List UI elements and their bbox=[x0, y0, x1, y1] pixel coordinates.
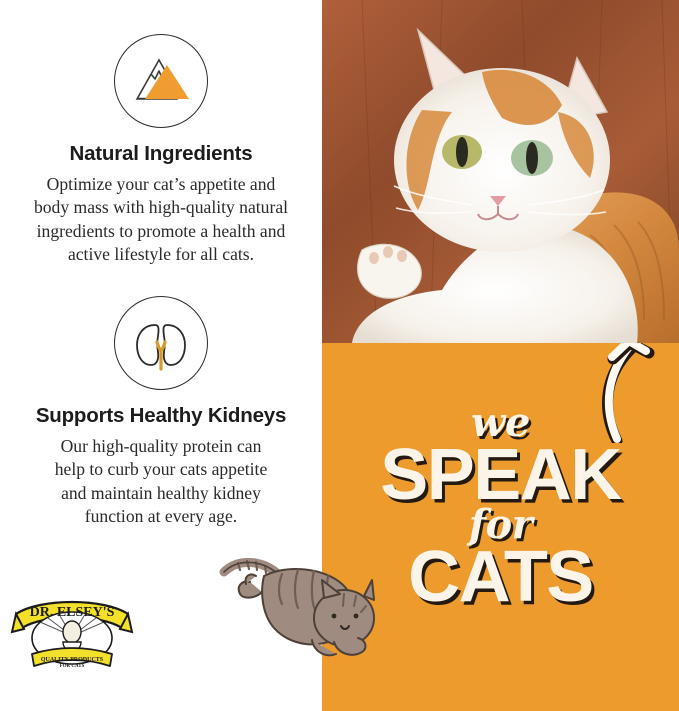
leaping-cat-illustration bbox=[216, 540, 392, 670]
feature-body-line: body mass with high-quality natural bbox=[16, 196, 306, 219]
feature-body: Optimize your cat’s appetite and body ma… bbox=[0, 173, 322, 267]
mountain-icon-glyph bbox=[115, 35, 207, 127]
cat-photo-illustration bbox=[322, 0, 679, 343]
feature-body-line: active lifestyle for all cats. bbox=[16, 243, 306, 266]
logo-bottom-text: QUALITY PRODUCTS bbox=[41, 657, 104, 663]
logo-bottom-text-2: FOR CATS bbox=[60, 664, 85, 669]
kidney-icon bbox=[114, 296, 208, 390]
kidney-icon-glyph bbox=[115, 297, 207, 389]
mountain-icon bbox=[114, 34, 208, 128]
feature-supports-healthy-kidneys: Supports Healthy Kidneys Our high-qualit… bbox=[0, 296, 322, 529]
logo-top-text: DR. ELSEY'S bbox=[30, 605, 115, 620]
feature-body: Our high-quality protein can help to cur… bbox=[0, 435, 322, 529]
feature-natural-ingredients: Natural Ingredients Optimize your cat’s … bbox=[0, 34, 322, 267]
feature-body-line: ingredients to promote a health and bbox=[16, 220, 306, 243]
feature-body-line: Our high-quality protein can bbox=[16, 435, 306, 458]
feature-body-line: function at every age. bbox=[16, 505, 306, 528]
feature-body-line: Optimize your cat’s appetite and bbox=[16, 173, 306, 196]
dr-elseys-logo: DR. ELSEY'S QUALITY PRODUCTS FOR CATS bbox=[10, 592, 134, 672]
feature-title: Supports Healthy Kidneys bbox=[0, 404, 322, 428]
cat-photo bbox=[322, 0, 679, 343]
feature-body-line: and maintain healthy kidney bbox=[16, 482, 306, 505]
feature-body-line: help to curb your cats appetite bbox=[16, 458, 306, 481]
feature-title: Natural Ingredients bbox=[0, 142, 322, 166]
